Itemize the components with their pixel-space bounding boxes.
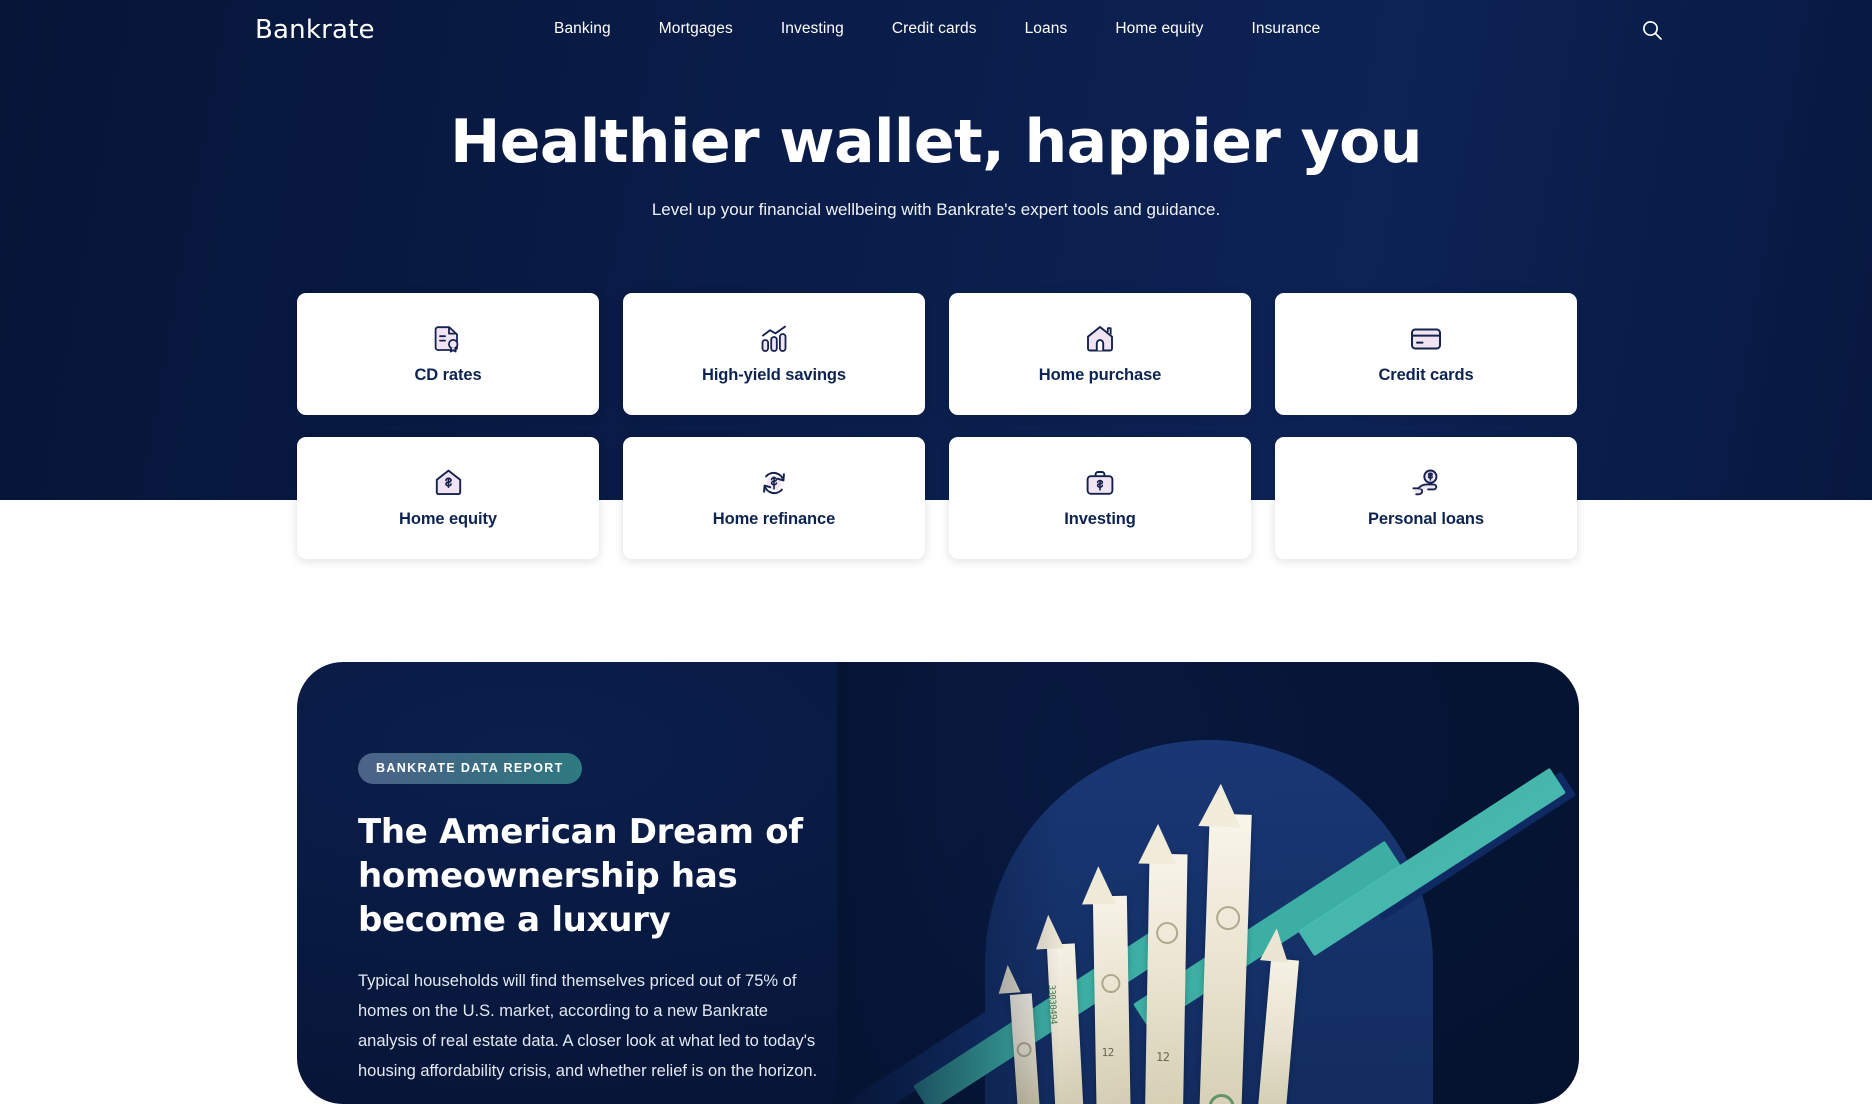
tile-label: Home equity [399, 509, 497, 529]
tile-home-refinance[interactable]: Home refinance [623, 437, 925, 559]
tile-label: CD rates [414, 365, 481, 385]
dollar-house-3: 12 [1093, 896, 1131, 1104]
quick-links-grid: CD rates High-yield savings [297, 293, 1579, 559]
hand-coin-icon [1410, 468, 1442, 498]
nav-link-home-equity[interactable]: Home equity [1091, 19, 1227, 39]
tile-high-yield-savings[interactable]: High-yield savings [623, 293, 925, 415]
hero-title: Healthier wallet, happier you [0, 105, 1872, 179]
nav-link-investing[interactable]: Investing [757, 19, 868, 39]
search-icon[interactable] [1640, 18, 1664, 42]
nav-link-insurance[interactable]: Insurance [1227, 19, 1344, 39]
hero-subtitle: Level up your financial wellbeing with B… [0, 197, 1872, 223]
house-dollar-icon [434, 468, 463, 498]
tile-label: Personal loans [1368, 509, 1484, 529]
tile-label: Home purchase [1039, 365, 1162, 385]
house-icon [1085, 324, 1115, 354]
credit-card-icon [1410, 324, 1442, 354]
data-report-title: The American Dream of homeownership has … [358, 810, 838, 942]
data-report-card[interactable]: 33030494 12 12 [297, 662, 1579, 1104]
tile-personal-loans[interactable]: Personal loans [1275, 437, 1577, 559]
nav-link-loans[interactable]: Loans [1001, 19, 1092, 39]
bar-chart-trend-icon [759, 324, 789, 354]
tile-label: Credit cards [1378, 365, 1473, 385]
tile-investing[interactable]: Investing [949, 437, 1251, 559]
nav-link-banking[interactable]: Banking [530, 19, 635, 39]
tile-label: High-yield savings [702, 365, 846, 385]
tile-home-purchase[interactable]: Home purchase [949, 293, 1251, 415]
top-navigation-bar: Bankrate Banking Mortgages Investing Cre… [0, 0, 1872, 62]
tile-credit-cards[interactable]: Credit cards [1275, 293, 1577, 415]
dollar-house-4: 12 [1144, 854, 1187, 1104]
tile-label: Home refinance [713, 509, 835, 529]
nav-link-mortgages[interactable]: Mortgages [635, 19, 757, 39]
tile-cd-rates[interactable]: CD rates [297, 293, 599, 415]
refresh-dollar-icon [759, 468, 789, 498]
briefcase-dollar-icon [1085, 468, 1115, 498]
page-root: Bankrate Banking Mortgages Investing Cre… [0, 0, 1872, 1104]
nav-links: Banking Mortgages Investing Credit cards… [530, 19, 1344, 39]
nav-link-credit-cards[interactable]: Credit cards [868, 19, 1001, 39]
origami-dollar-houses-artwork: 33030494 12 12 [837, 662, 1579, 1104]
data-report-body: Typical households will find themselves … [358, 966, 828, 1086]
document-certificate-icon [434, 324, 462, 354]
bankrate-logo[interactable]: Bankrate [255, 15, 375, 45]
data-report-content: BANKRATE DATA REPORT The American Dream … [297, 662, 897, 1104]
tile-home-equity[interactable]: Home equity [297, 437, 599, 559]
tile-label: Investing [1064, 509, 1136, 529]
status-badge: BANKRATE DATA REPORT [358, 753, 582, 784]
